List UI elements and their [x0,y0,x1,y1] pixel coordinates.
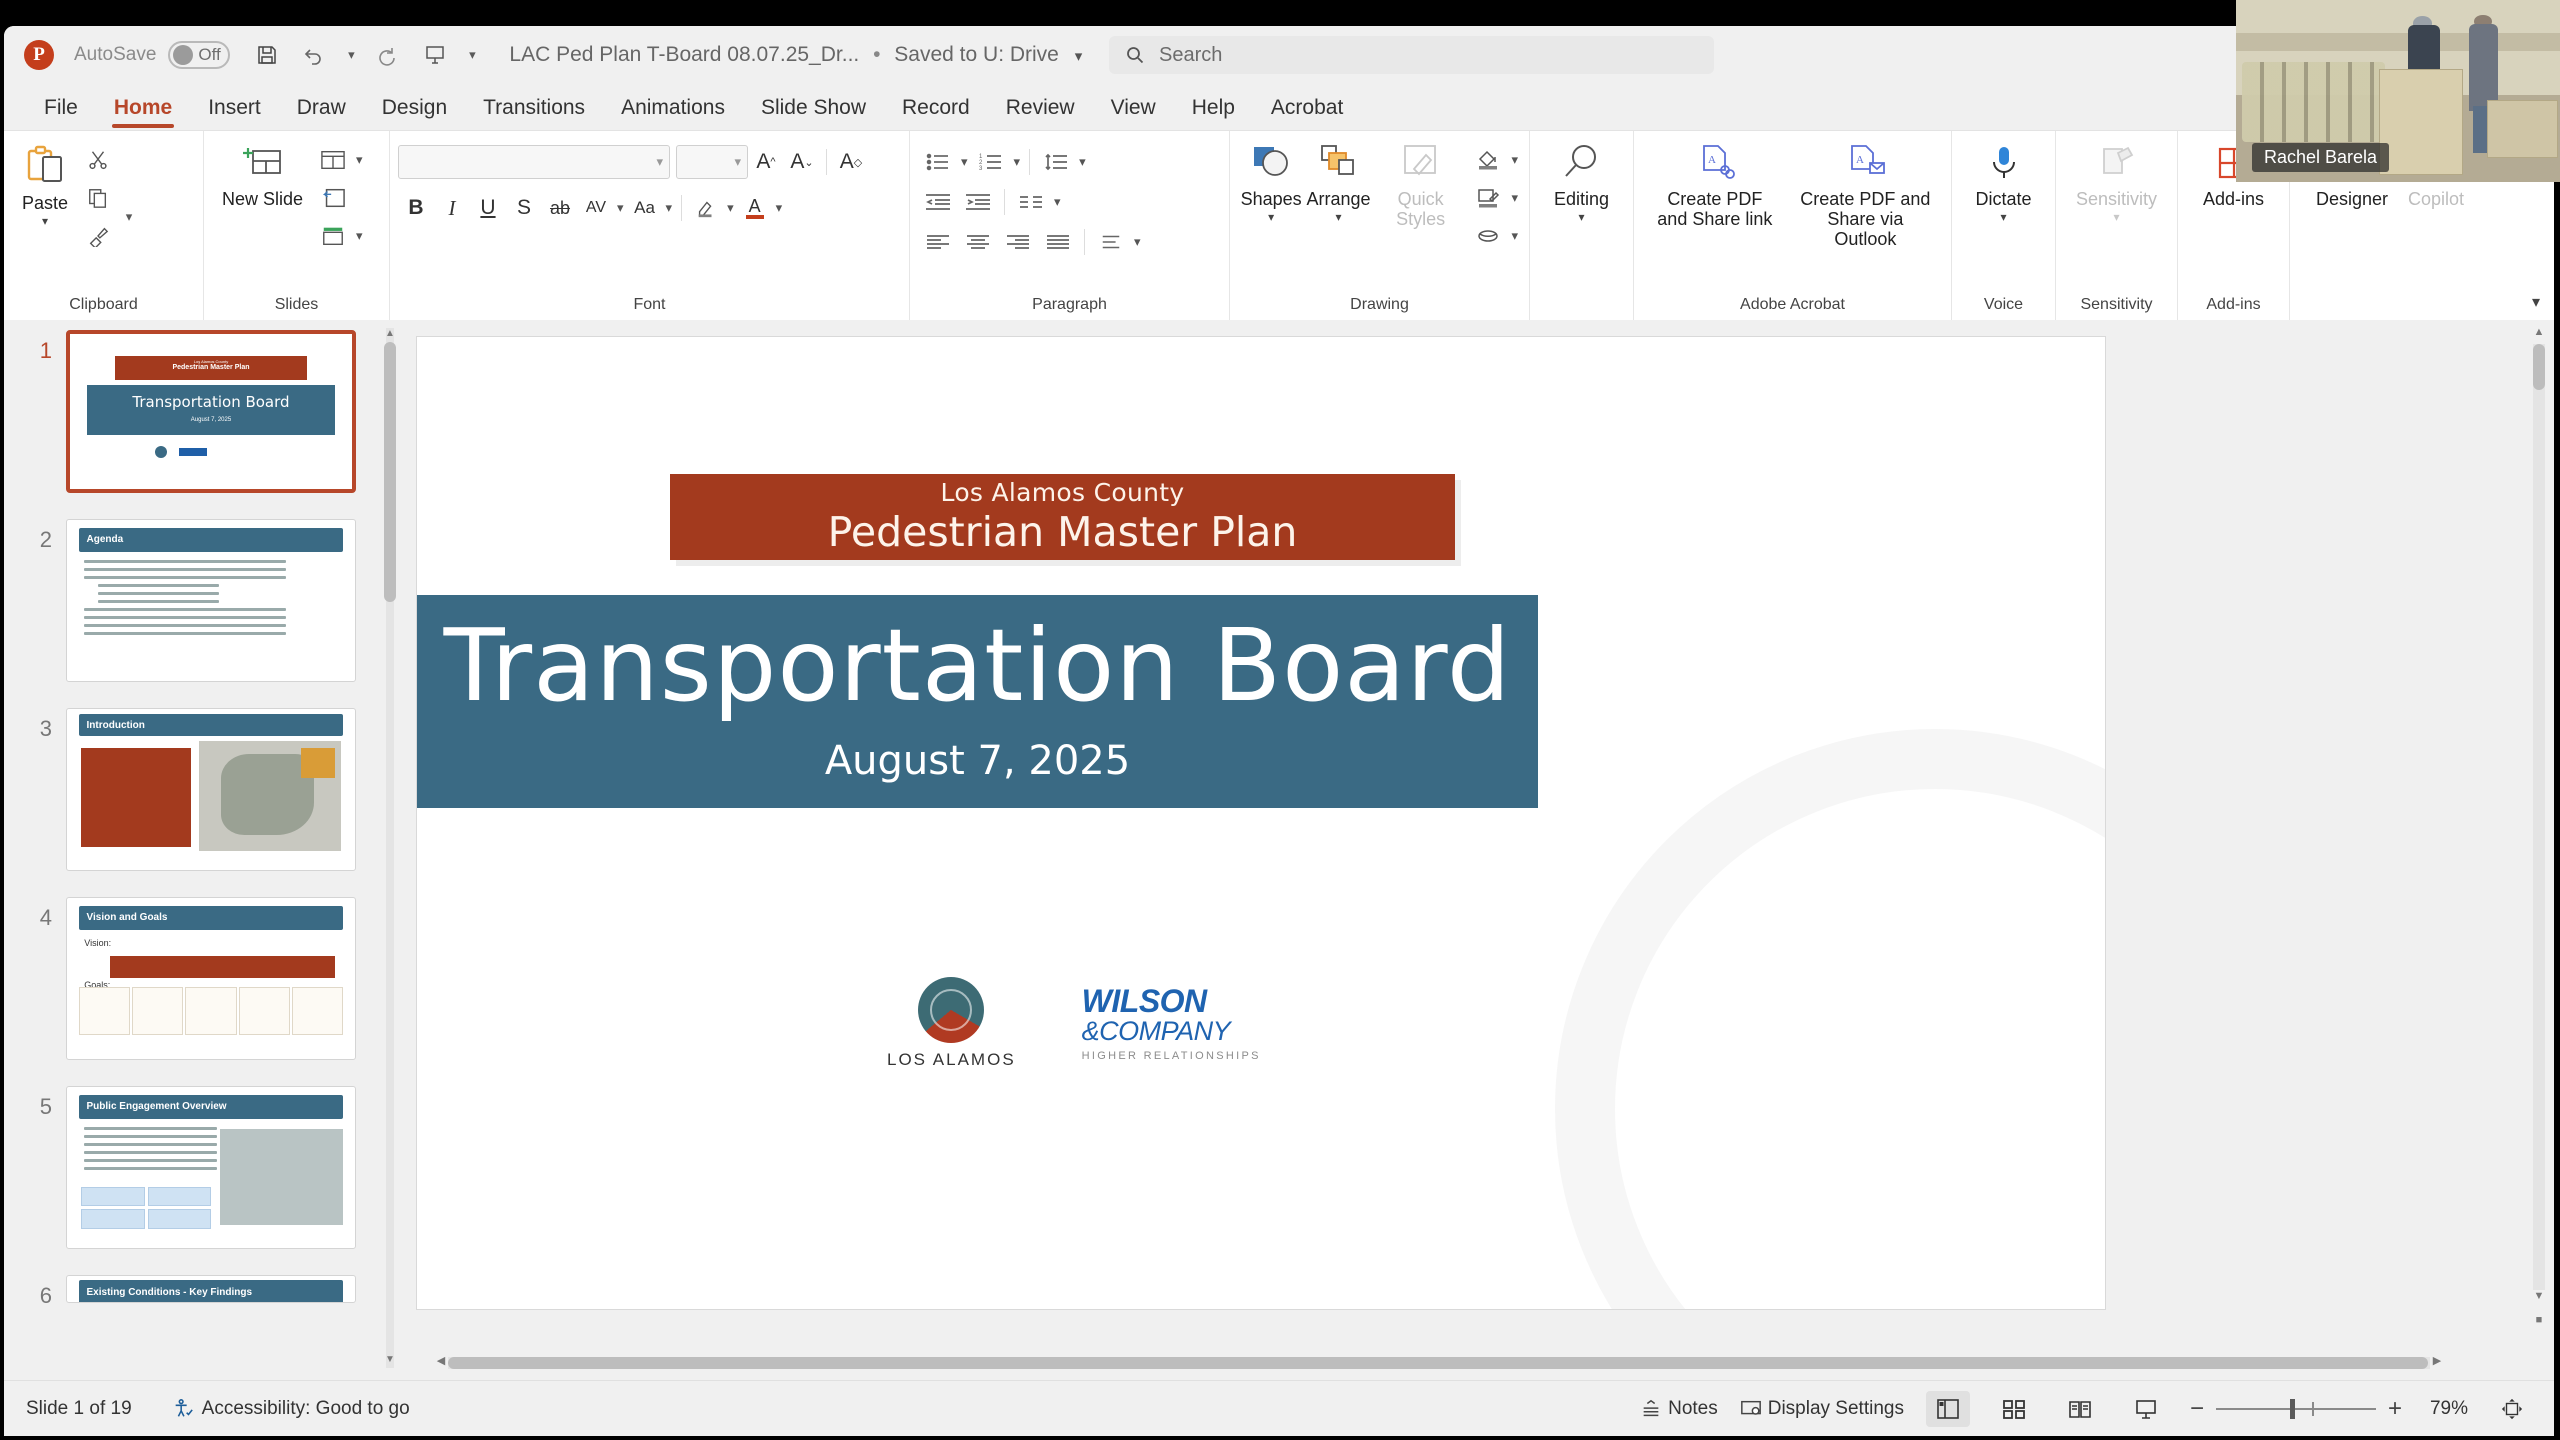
paste-chevron-down-icon[interactable]: ▾ [42,214,48,228]
slide-thumbnail-3[interactable]: Introduction [66,708,356,871]
slide-indicator[interactable]: Slide 1 of 19 [26,1398,132,1420]
thumb3-map-image [199,741,340,850]
thumb5-line-3 [84,1143,216,1146]
display-settings-icon [1740,1398,1762,1420]
thumbnail-row-6[interactable]: 6 Existing Conditions - Key Findings [4,1275,400,1309]
thumb5-line-1 [84,1127,216,1130]
wilson-logo-line2: &COMPANY [1082,1017,1261,1045]
dictate-label: Dictate [1975,189,2031,209]
strikethrough-button[interactable]: ab [542,191,578,225]
thumb3-text-block [81,748,190,848]
text-direction-button[interactable] [1091,225,1131,259]
editing-label: Editing [1554,189,1609,209]
tab-review[interactable]: Review [990,92,1091,130]
group-label-voice: Voice [1960,296,2047,320]
slide-banner-county: Los Alamos County [941,478,1185,507]
dictate-button[interactable]: Dictate ▾ [1965,137,2041,224]
thumbnail-row-5[interactable]: 5 Public Engagement Overview [4,1086,400,1249]
group-label-addins: Add-ins [2186,296,2281,320]
columns-button[interactable] [1011,185,1051,219]
font-color-swatch [746,215,764,219]
slide-thumbnail-2[interactable]: Agenda [66,519,356,682]
title-separator: • [873,43,880,66]
zoom-slider[interactable] [2216,1408,2376,1410]
thumb5-title: Public Engagement Overview [87,1101,227,1112]
thumbnail-row-3[interactable]: 3 Introduction [4,708,400,871]
text-shadow-button[interactable]: S [506,191,542,225]
font-size-chevron-icon[interactable]: ▾ [734,154,741,170]
autosave-toggle-knob [173,45,193,65]
cut-button[interactable] [78,143,118,177]
ribbon-group-font: ▾ ▾ A^ A⌄ A◇ B I U [390,131,910,320]
thumb2-line-2 [84,568,286,571]
thumb3-title: Introduction [87,720,145,731]
current-slide[interactable]: Los Alamos County Pedestrian Master Plan… [416,336,2106,1310]
tab-file[interactable]: File [28,92,94,130]
thumb2-line-1 [84,560,286,563]
dictate-chevron-down-icon[interactable]: ▾ [2000,210,2006,224]
shape-outline-button[interactable] [1468,181,1508,215]
webcam-wall-trim [2236,33,2560,51]
shape-effects-chevron-icon[interactable]: ▾ [1508,228,1521,244]
slide-thumbnail-pane[interactable]: 1 Los Alamos County Pedestrian Master Pl… [4,320,400,1380]
webcam-chairs [2242,62,2385,142]
editing-chevron-down-icon[interactable]: ▾ [1578,210,1584,224]
thumb6-header: Existing Conditions - Key Findings [79,1280,344,1303]
zoom-slider-handle[interactable] [2290,1399,2295,1419]
notes-button[interactable]: Notes [1640,1398,1718,1420]
thumb5-stat-cards [81,1187,211,1229]
slide-banner-plan: Pedestrian Master Plan [828,508,1298,556]
ribbon-group-paragraph: ▾ 1 2 3 ▾ [910,131,1230,320]
thumb4-goal-1 [79,987,130,1035]
normal-view-button[interactable] [1926,1391,1970,1427]
slide-thumbnail-4[interactable]: Vision and Goals Vision: Goals: [66,897,356,1060]
clipboard-more-chevron-icon[interactable]: ▾ [118,196,140,238]
thumb2-header: Agenda [79,528,344,552]
thumb4-goal-5 [292,987,343,1035]
group-label-drawing: Drawing [1238,296,1521,320]
numbering-chevron-icon[interactable]: ▾ [1011,154,1024,170]
thumb5-bullets [84,1127,216,1175]
thumbnail-scroll-thumb[interactable] [384,342,396,602]
layout-chevron-down-icon[interactable]: ▾ [353,152,366,168]
create-pdf-share-outlook-label: Create PDF and Share via Outlook [1798,189,1933,249]
thumb2-line-4 [98,584,219,587]
thumb1-los-alamos-logo-icon [155,446,167,458]
display-settings-button[interactable]: Display Settings [1740,1398,1904,1420]
slide-show-button[interactable] [2124,1391,2168,1427]
highlight-chevron-icon[interactable]: ▾ [724,200,737,216]
thumb5-stat-1 [81,1187,144,1206]
zoom-in-button[interactable]: + [2388,1395,2402,1423]
tab-help[interactable]: Help [1176,92,1251,130]
thumb5-map-image [220,1129,344,1226]
ribbon: Paste ▾ [4,130,2554,320]
los-alamos-logo-text: LOS ALAMOS [887,1050,1016,1070]
customize-qat-icon[interactable]: ▾ [461,34,483,76]
thumb5-line-5 [84,1159,216,1162]
thumb2-title: Agenda [87,534,124,545]
thumb2-line-5 [98,592,219,595]
ribbon-group-editing: Editing ▾ [1530,131,1634,320]
webcam-person2-body [2469,24,2498,111]
thumb2-line-10 [84,632,286,635]
sensitivity-button: Sensitivity ▾ [2066,137,2167,224]
thumb5-stat-3 [81,1209,144,1228]
sensitivity-chevron-down-icon: ▾ [2113,210,2119,224]
zoom-out-button[interactable]: − [2190,1395,2204,1423]
bullets-button[interactable] [918,145,958,179]
tab-slide-show[interactable]: Slide Show [745,92,882,130]
shapes-button[interactable]: Shapes ▾ [1238,137,1304,224]
thumb1-titleblock: Transportation Board August 7, 2025 [87,385,335,435]
ribbon-group-clipboard: Paste ▾ [4,131,204,320]
webcam-person1-body [2408,25,2440,72]
hscroll-thumb[interactable] [448,1357,2428,1369]
slide-title: Transportation Board [417,607,1538,724]
reset-button[interactable] [313,181,353,215]
slide-thumbnail-5[interactable]: Public Engagement Overview [66,1086,356,1249]
justify-button[interactable] [1038,225,1078,259]
slide-scroll-down-icon[interactable]: ▼ [2530,1290,2548,1308]
clear-formatting-button[interactable]: A◇ [833,145,869,179]
align-left-button[interactable] [918,225,958,259]
new-slide-label: New Slide [222,189,303,209]
shapes-chevron-down-icon[interactable]: ▾ [1268,210,1274,224]
paste-label: Paste [22,193,68,213]
thumbnail-number-5: 5 [18,1086,52,1120]
tab-draw[interactable]: Draw [281,92,362,130]
thumb4-goal-2 [132,987,183,1035]
start-presentation-icon[interactable] [414,34,456,76]
svg-text:3: 3 [979,166,983,171]
thumb4-vision-box [110,956,335,979]
thumbnail-row-2[interactable]: 2 Agenda [4,519,400,682]
new-slide-button[interactable]: New Slide [212,137,313,209]
microphone-icon [1984,143,2024,183]
thumbnail-number-2: 2 [18,519,52,553]
powerpoint-logo-icon: P [24,40,54,70]
tab-transitions[interactable]: Transitions [467,92,601,130]
tab-insert[interactable]: Insert [192,92,277,130]
hscroll-left-icon[interactable]: ◀ [434,1354,448,1372]
quick-styles-label: Quick Styles [1383,189,1459,229]
shape-effects-button[interactable] [1468,219,1508,253]
thumb2-bullets [84,560,286,640]
tab-record[interactable]: Record [886,92,986,130]
thumb5-line-6 [84,1167,216,1170]
tab-design[interactable]: Design [366,92,463,130]
save-location: Saved to U: Drive [894,43,1059,66]
thumb4-goal-cards [79,987,344,1035]
search-placeholder: Search [1159,44,1222,67]
wilson-company-logo: WILSON &COMPANY HIGHER RELATIONSHIPS [1082,985,1261,1061]
sensitivity-icon [2096,143,2138,183]
thumb6-title: Existing Conditions - Key Findings [87,1287,253,1298]
slides-small-buttons: ▾ [313,137,366,253]
quick-styles-icon [1400,143,1442,183]
paragraph-divider-2 [1004,189,1005,215]
thumb3-header: Introduction [79,714,344,737]
webcam-video-overlay[interactable]: Rachel Barela [2236,0,2560,182]
thumb5-line-4 [84,1151,216,1154]
thumbnail-scrollbar[interactable]: ▲ ▼ [384,328,396,1368]
zoom-slider-tick [2312,1402,2314,1416]
increase-indent-button[interactable] [958,185,998,219]
thumb3-map-shape [221,754,314,835]
ribbon-group-sensitivity: Sensitivity ▾ Sensitivity [2056,131,2178,320]
layout-button[interactable] [313,143,353,177]
search-input[interactable]: Search [1109,36,1714,74]
slide-date: August 7, 2025 [417,738,1538,784]
slide-scroll-track[interactable] [2533,344,2545,1290]
slide-logo-row: LOS ALAMOS WILSON &COMPANY HIGHER RELATI… [887,977,1261,1070]
display-settings-label: Display Settings [1768,1398,1904,1420]
thumbnail-number-1: 1 [18,330,52,364]
decrease-indent-button[interactable] [918,185,958,219]
grow-font-button[interactable]: A^ [748,145,784,179]
font-divider [826,149,827,175]
los-alamos-globe-icon [918,977,984,1043]
add-ins-label: Add-ins [2203,189,2264,209]
drawing-small-buttons: ▾ ▾ [1468,137,1521,253]
paste-icon [23,143,67,187]
group-label-slides: Slides [212,296,381,320]
ribbon-group-drawing: Shapes ▾ Arrange ▾ [1230,131,1530,320]
ribbon-group-slides: New Slide ▾ [204,131,390,320]
shape-outline-chevron-icon[interactable]: ▾ [1508,190,1521,206]
autosave-state: Off [198,45,220,65]
paragraph-divider-3 [1084,229,1085,255]
character-spacing-button[interactable]: AV [578,191,614,225]
notes-icon [1640,1398,1662,1420]
create-pdf-share-outlook-button[interactable]: A Create PDF and Share via Outlook [1788,137,1943,249]
notes-label: Notes [1668,1398,1718,1420]
format-painter-button[interactable] [78,219,118,253]
text-highlight-color-button[interactable] [688,191,724,225]
los-alamos-logo: LOS ALAMOS [887,977,1016,1070]
fit-slide-to-window-button[interactable] [2490,1391,2534,1427]
watermark-globe-icon [1555,729,2106,1310]
group-label-sensitivity: Sensitivity [2064,296,2169,320]
group-label-designer [2298,296,2482,320]
font-name-chevron-icon[interactable]: ▾ [656,154,663,170]
undo-icon[interactable] [293,34,335,76]
tab-animations[interactable]: Animations [605,92,741,130]
search-icon [1125,45,1145,65]
bold-button[interactable]: B [398,191,434,225]
quick-access-toolbar: ▾ ▾ [246,34,483,76]
status-bar-left: Slide 1 of 19 Accessibility: Good to go [26,1398,410,1420]
tab-view[interactable]: View [1095,92,1172,130]
font-divider-2 [681,195,682,221]
ribbon-tab-bar: File Home Insert Draw Design Transitions… [4,84,2554,130]
document-title-bar[interactable]: LAC Ped Plan T-Board 08.07.25_Dr... • Sa… [509,43,1082,67]
font-size-input[interactable]: ▾ [676,145,748,179]
thumb4-header: Vision and Goals [79,906,344,930]
reading-view-button[interactable] [2058,1391,2102,1427]
clipboard-small-buttons [78,137,118,253]
slide-horizontal-scrollbar[interactable]: ◀ ▶ [434,1354,2444,1372]
group-label-editing [1538,296,1625,320]
paragraph-divider [1029,149,1030,175]
group-label-paragraph: Paragraph [918,296,1221,320]
arrange-label: Arrange [1306,189,1370,209]
quick-styles-button: Quick Styles [1373,137,1469,229]
wilson-logo-tagline: HIGHER RELATIONSHIPS [1082,1050,1261,1062]
font-color-button[interactable]: A [737,191,773,225]
shape-fill-chevron-icon[interactable]: ▾ [1508,152,1521,168]
change-case-chevron-icon[interactable]: ▾ [663,200,676,216]
title-bar: P AutoSave Off ▾ [4,26,2554,84]
thumb4-title: Vision and Goals [87,912,168,923]
group-label-acrobat: Adobe Acrobat [1642,296,1943,320]
group-label-clipboard: Clipboard [12,296,195,320]
thumb4-goal-3 [185,987,236,1035]
new-slide-icon [242,143,284,183]
shapes-icon [1249,143,1293,183]
thumbnail-scroll-down-icon[interactable]: ▼ [384,1354,396,1368]
thumb5-stat-2 [148,1187,211,1206]
accessibility-label: Accessibility: Good to go [202,1398,410,1420]
thumbnail-row-1[interactable]: 1 Los Alamos County Pedestrian Master Pl… [4,330,400,493]
thumb1-banner: Los Alamos County Pedestrian Master Plan [115,356,307,381]
columns-chevron-icon[interactable]: ▾ [1051,194,1064,210]
slide-title-block[interactable]: Transportation Board August 7, 2025 [417,595,1538,808]
undo-dropdown-icon[interactable]: ▾ [340,34,362,76]
thumb5-stat-4 [148,1209,211,1228]
paste-button[interactable]: Paste ▾ [12,137,78,228]
change-case-button[interactable]: Aa [627,191,663,225]
thumb3-callout-box [301,748,335,779]
underline-button[interactable]: U [470,191,506,225]
thumb2-line-8 [84,616,286,619]
line-spacing-button[interactable] [1036,145,1076,179]
slide-thumbnail-6[interactable]: Existing Conditions - Key Findings [66,1275,356,1303]
thumb5-header: Public Engagement Overview [79,1095,344,1119]
shapes-label: Shapes [1241,189,1302,209]
thumb2-line-9 [84,624,286,627]
tab-acrobat[interactable]: Acrobat [1255,92,1359,130]
arrange-icon [1316,143,1360,183]
thumbnail-number-4: 4 [18,897,52,931]
section-button[interactable] [313,219,353,253]
thumb1-title: Transportation Board [87,393,335,411]
character-spacing-chevron-icon[interactable]: ▾ [614,200,627,216]
ribbon-group-acrobat: A Create PDF and Share link A [1634,131,1952,320]
thumb1-logos [155,446,207,458]
editing-button[interactable]: Editing ▾ [1544,137,1619,224]
align-right-button[interactable] [998,225,1038,259]
text-direction-chevron-icon[interactable]: ▾ [1131,234,1144,250]
slide-vertical-scrollbar[interactable]: ▲ ▼ ■ [2530,326,2548,1346]
main-area: 1 Los Alamos County Pedestrian Master Pl… [4,320,2554,1380]
arrange-button[interactable]: Arrange ▾ [1304,137,1373,224]
svg-text:A: A [1708,154,1716,166]
thumb1-plan: Pedestrian Master Plan [115,364,307,371]
redo-icon[interactable] [367,34,409,76]
autosave-label: AutoSave [74,44,156,66]
numbering-button[interactable]: 1 2 3 [971,145,1011,179]
pdf-link-icon: A [1694,143,1736,183]
svg-text:A: A [1856,154,1864,166]
group-label-font: Font [398,296,901,320]
webcam-podium [2379,69,2463,175]
thumbnail-scroll-up-icon[interactable]: ▲ [384,328,396,342]
copilot-label: Copilot [2408,189,2464,209]
accessibility-icon [172,1398,194,1420]
thumb1-wilson-logo-icon [179,448,207,456]
font-color-letter: A [749,197,761,215]
designer-label: Designer [2316,189,2388,209]
slide-banner[interactable]: Los Alamos County Pedestrian Master Plan [670,474,1455,560]
shape-fill-button[interactable] [1468,143,1508,177]
thumbnail-row-4[interactable]: 4 Vision and Goals Vision: Goals: [4,897,400,1060]
title-chevron-down-icon[interactable]: ▾ [1075,48,1083,65]
thumb4-goal-4 [239,987,290,1035]
slide-thumbnail-1[interactable]: Los Alamos County Pedestrian Master Plan… [66,330,356,493]
slide-stage: Los Alamos County Pedestrian Master Plan… [400,320,2554,1380]
sensitivity-label: Sensitivity [2076,189,2157,209]
create-pdf-share-link-label: Create PDF and Share link [1652,189,1778,229]
slide-scroll-up-icon[interactable]: ▲ [2530,326,2548,344]
document-title: LAC Ped Plan T-Board 08.07.25_Dr... [509,43,859,66]
autosave-toggle[interactable]: Off [168,41,230,69]
search-magnifier-icon [1559,143,1603,183]
italic-button[interactable]: I [434,191,470,225]
save-icon[interactable] [246,34,288,76]
shrink-font-button[interactable]: A⌄ [784,145,820,179]
thumbnail-number-3: 3 [18,708,52,742]
thumb2-line-7 [84,608,286,611]
font-name-input[interactable]: ▾ [398,145,670,179]
collapse-ribbon-chevron-down-icon[interactable]: ▾ [2532,292,2540,312]
line-spacing-chevron-icon[interactable]: ▾ [1076,154,1089,170]
status-bar: Slide 1 of 19 Accessibility: Good to go [4,1380,2554,1436]
thumb4-vision-label: Vision: [84,938,111,948]
pdf-email-icon: A [1844,143,1886,183]
align-center-button[interactable] [958,225,998,259]
zoom-control: − + 79% [2190,1395,2468,1423]
create-pdf-share-link-button[interactable]: A Create PDF and Share link [1642,137,1788,229]
wilson-logo-line1: WILSON [1082,985,1261,1017]
powerpoint-window: P AutoSave Off ▾ [4,26,2554,1436]
tab-home[interactable]: Home [98,92,188,130]
font-color-chevron-icon[interactable]: ▾ [773,200,786,216]
slide-next-icon[interactable]: ■ [2530,1314,2548,1332]
thumb2-line-6 [98,600,219,603]
ribbon-group-voice: Dictate ▾ Voice [1952,131,2056,320]
thumb1-date: August 7, 2025 [87,417,335,423]
webcam-desk [2487,100,2558,158]
arrange-chevron-down-icon[interactable]: ▾ [1335,210,1341,224]
hscroll-right-icon[interactable]: ▶ [2430,1354,2444,1372]
thumb2-line-3 [84,576,286,579]
slide-scroll-thumb[interactable] [2533,344,2545,390]
bullets-chevron-icon[interactable]: ▾ [958,154,971,170]
accessibility-status[interactable]: Accessibility: Good to go [172,1398,410,1420]
thumb5-line-2 [84,1135,216,1138]
thumbnail-number-6: 6 [18,1275,52,1309]
status-bar-right: Notes Display Settings [1640,1391,2534,1427]
slide-sorter-view-button[interactable] [1992,1391,2036,1427]
zoom-level[interactable]: 79% [2414,1398,2468,1420]
section-chevron-down-icon[interactable]: ▾ [353,228,366,244]
copy-button[interactable] [78,181,118,215]
screen: P AutoSave Off ▾ [0,0,2560,1440]
webcam-participant-name: Rachel Barela [2252,143,2389,172]
